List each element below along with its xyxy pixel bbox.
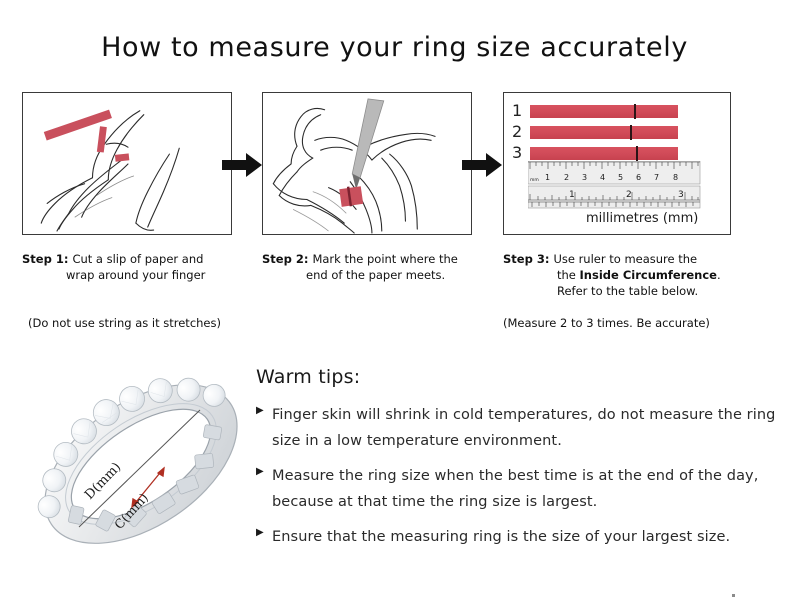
diamond-eternity-ring-photo: D(mm) C(mm) xyxy=(24,352,258,576)
step-3-label: Step 3: xyxy=(503,252,549,266)
svg-text:2: 2 xyxy=(626,190,632,200)
strip-label-3: 3 xyxy=(512,145,530,161)
step-3-line2-prefix: the xyxy=(557,268,580,282)
svg-text:3: 3 xyxy=(582,173,587,182)
svg-text:1: 1 xyxy=(569,190,575,200)
tip-item: ▶ Ensure that the measuring ring is the … xyxy=(256,524,776,550)
strip-mark-3 xyxy=(636,146,638,161)
warm-tips-section: Warm tips: ▶ Finger skin will shrink in … xyxy=(256,366,776,559)
step-3-line3: Refer to the table below. xyxy=(503,283,763,299)
strip-row-3: 3 xyxy=(512,145,712,161)
step-3-caption: Step 3: Use ruler to measure the the Ins… xyxy=(503,251,763,299)
pen-shape xyxy=(352,99,384,190)
arrow-step1-to-step2-icon xyxy=(222,152,262,178)
step-3-inside-circumference-emphasis: Inside Circumference xyxy=(580,268,717,282)
strip-row-1: 1 xyxy=(512,103,712,119)
svg-text:6: 6 xyxy=(636,173,641,182)
paper-strip-3 xyxy=(530,147,678,160)
svg-text:7: 7 xyxy=(654,173,659,182)
step-3-line2-suffix: . xyxy=(717,268,721,282)
step-3-illustration-panel: 1 2 3 xyxy=(503,92,731,235)
strip-row-2: 2 xyxy=(512,124,712,140)
step-2-line2: end of the paper meets. xyxy=(262,267,492,283)
step-3-note: (Measure 2 to 3 times. Be accurate) xyxy=(503,316,710,330)
paper-strip-2 xyxy=(530,126,678,139)
triangle-bullet-icon: ▶ xyxy=(256,524,272,538)
ring-diagram: D(mm) C(mm) xyxy=(24,352,258,576)
step-2-caption: Step 2: Mark the point where the end of … xyxy=(262,251,492,283)
step-1-line2: wrap around your finger xyxy=(22,267,252,283)
triangle-bullet-icon: ▶ xyxy=(256,463,272,477)
step-3-line2: the Inside Circumference. xyxy=(503,267,763,283)
step-1-illustration-panel xyxy=(22,92,232,235)
paper-strip-shape xyxy=(339,186,363,207)
image-artifact-speck xyxy=(732,594,735,597)
ruler-graphic: 12 34 56 78 mm 123 xyxy=(528,161,720,209)
step-2-illustration-panel xyxy=(262,92,472,235)
tip-item: ▶ Measure the ring size when the best ti… xyxy=(256,463,776,515)
hand-marking-paper-with-pen-illustration xyxy=(263,93,471,234)
svg-text:1: 1 xyxy=(545,173,550,182)
step-1-caption: Step 1: Cut a slip of paper and wrap aro… xyxy=(22,251,252,283)
step-2-line1: Mark the point where the xyxy=(312,252,457,266)
strip-mark-1 xyxy=(634,104,636,119)
svg-text:8: 8 xyxy=(673,173,678,182)
page-title: How to measure your ring size accurately xyxy=(0,32,789,63)
warm-tips-heading: Warm tips: xyxy=(256,366,776,388)
paper-strip-shape xyxy=(44,110,130,162)
paper-strip-1 xyxy=(530,105,678,118)
tip-text: Measure the ring size when the best time… xyxy=(272,463,776,515)
svg-text:4: 4 xyxy=(600,173,605,182)
step-3-line1: Use ruler to measure the xyxy=(553,252,697,266)
step-1-label: Step 1: xyxy=(22,252,68,266)
arrow-step2-to-step3-icon xyxy=(462,152,502,178)
tip-text: Ensure that the measuring ring is the si… xyxy=(272,524,730,550)
svg-text:3: 3 xyxy=(678,190,684,200)
tip-item: ▶ Finger skin will shrink in cold temper… xyxy=(256,402,776,454)
step-1-note: (Do not use string as it stretches) xyxy=(28,316,221,330)
step-2-label: Step 2: xyxy=(262,252,308,266)
strip-label-1: 1 xyxy=(512,103,530,119)
hand-with-paper-strip-illustration xyxy=(23,93,231,234)
step-1-line1: Cut a slip of paper and xyxy=(72,252,203,266)
svg-text:5: 5 xyxy=(618,173,623,182)
strip-mark-2 xyxy=(630,125,632,140)
tip-text: Finger skin will shrink in cold temperat… xyxy=(272,402,776,454)
svg-text:2: 2 xyxy=(564,173,569,182)
strip-label-2: 2 xyxy=(512,124,530,140)
millimetres-unit-caption: millimetres (mm) xyxy=(586,211,698,226)
triangle-bullet-icon: ▶ xyxy=(256,402,272,416)
svg-text:mm: mm xyxy=(530,178,539,183)
